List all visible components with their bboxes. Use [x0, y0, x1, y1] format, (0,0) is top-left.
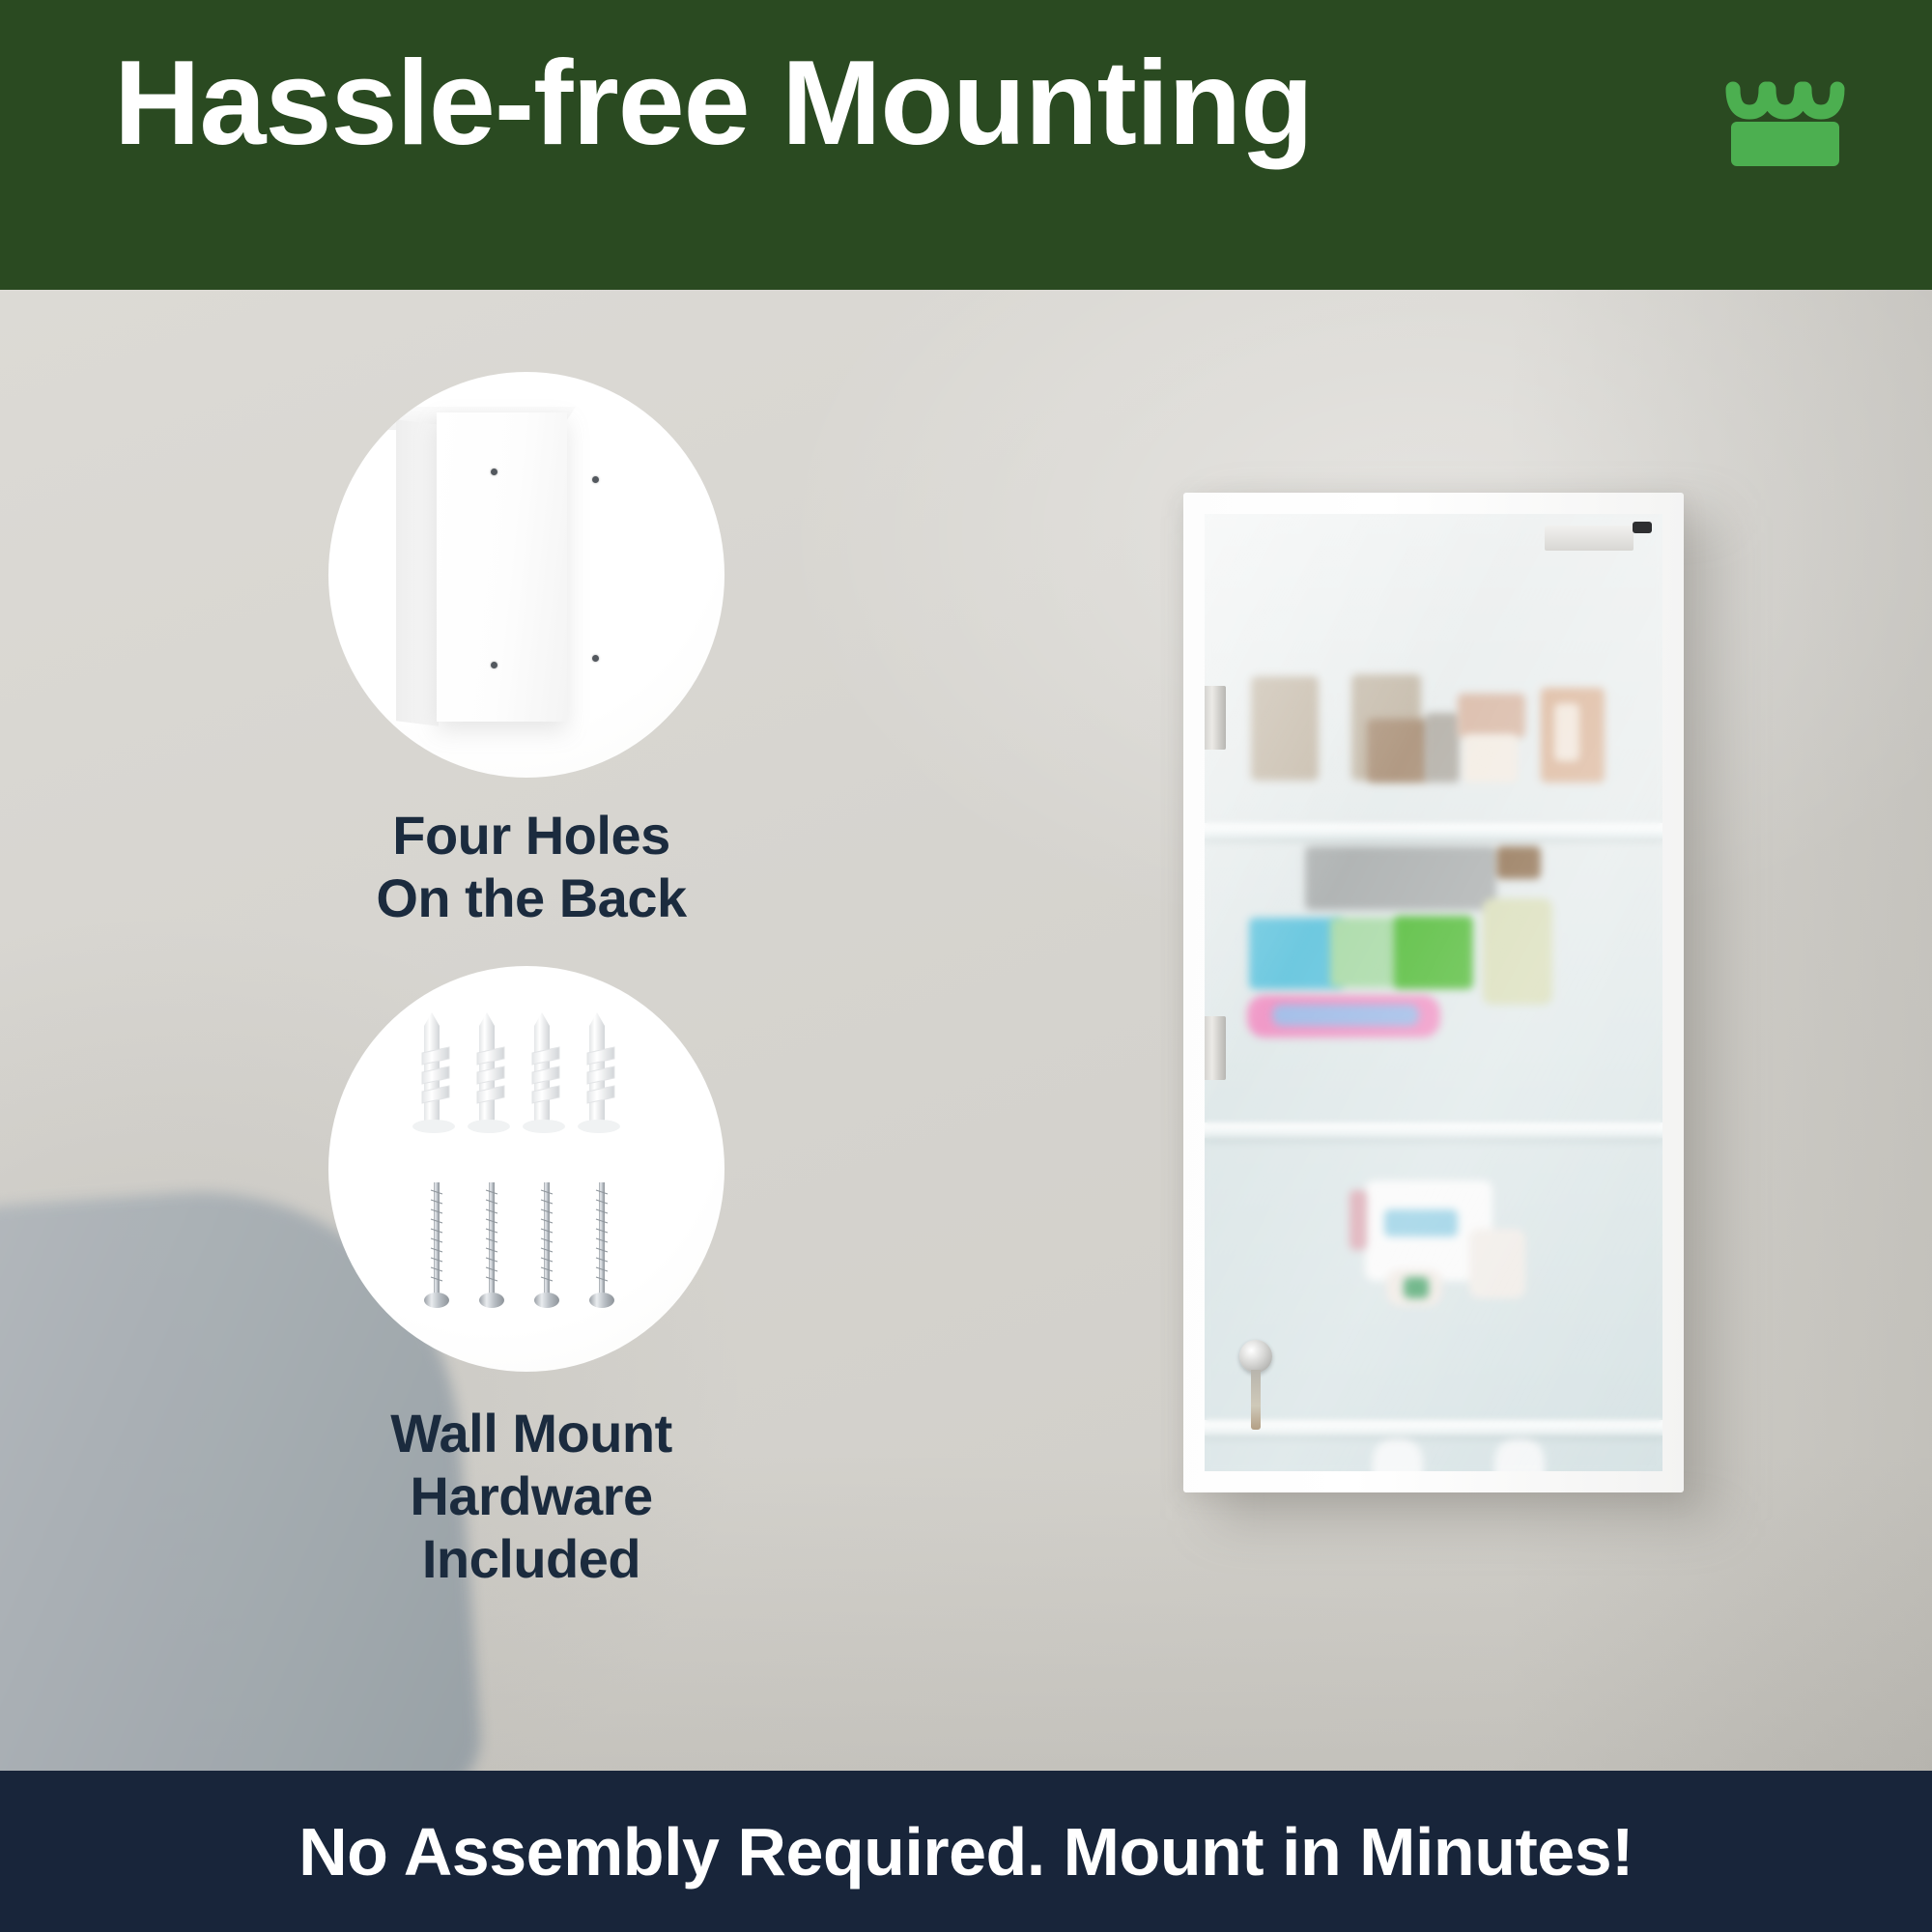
shelf-item — [1394, 916, 1473, 989]
feature-image-four-holes — [328, 372, 724, 778]
mounting-hole — [592, 655, 599, 662]
shelf-item — [1350, 1190, 1367, 1250]
product-scene: Four Holes On the Back — [0, 290, 1932, 1771]
cabinet-key-icon[interactable] — [1251, 1370, 1261, 1430]
feature-image-wall-mount-hardware — [328, 966, 724, 1372]
footer-banner: No Assembly Required. Mount in Minutes! — [0, 1771, 1932, 1932]
shelf-item — [1425, 713, 1460, 782]
cabinet-shelf — [1205, 1420, 1662, 1435]
shelf-item — [1483, 898, 1552, 1005]
wall-mounted-medicine-cabinet — [1183, 493, 1684, 1492]
shelf-item — [1458, 694, 1525, 738]
shelf-item — [1373, 1437, 1423, 1471]
shelf-item — [1251, 676, 1319, 781]
cabinet-side-face — [396, 419, 439, 725]
infographic-canvas: Hassle-free Mounting — [0, 0, 1932, 1932]
caption-line: Included — [232, 1528, 831, 1591]
shelf-item — [1554, 703, 1579, 761]
shelf-item — [1305, 846, 1496, 910]
page-title: Hassle-free Mounting — [114, 35, 1313, 173]
shelf-item — [1404, 1277, 1429, 1298]
cabinet-frosted-glass-door[interactable] — [1205, 514, 1662, 1471]
hardware-illustration — [328, 966, 724, 1372]
shelf-item — [1463, 734, 1518, 782]
cabinet-interior — [1205, 514, 1662, 1471]
cabinet-door-latch[interactable] — [1545, 526, 1634, 551]
caption-line: Hardware — [232, 1465, 831, 1528]
mounting-hole — [491, 469, 497, 475]
crown-scallop-logo-icon — [1723, 56, 1847, 170]
header-banner: Hassle-free Mounting — [0, 0, 1932, 290]
cabinet-hinge — [1205, 686, 1226, 750]
screw-group — [424, 1182, 614, 1308]
cabinet-latch-screw-icon — [1633, 522, 1652, 533]
drywall-anchor-group — [412, 1012, 620, 1133]
shelf-item — [1494, 1437, 1545, 1471]
cabinet-shelf — [1205, 823, 1662, 838]
shelf-item — [1384, 1209, 1458, 1236]
feature-caption-four-holes: Four Holes On the Back — [232, 805, 831, 930]
cabinet-key-lock[interactable] — [1239, 1340, 1272, 1373]
cabinet-back-panel — [437, 412, 567, 722]
cabinet-back-illustration — [328, 372, 724, 778]
mounting-hole — [592, 476, 599, 483]
shelf-item — [1496, 846, 1541, 879]
caption-line: Wall Mount — [232, 1403, 831, 1465]
feature-caption-wall-mount-hardware: Wall Mount Hardware Included — [232, 1403, 831, 1591]
caption-line: On the Back — [232, 867, 831, 930]
cabinet-shelf — [1205, 1122, 1662, 1138]
caption-line: Four Holes — [232, 805, 831, 867]
shelf-item — [1272, 1005, 1419, 1026]
shelf-item — [1469, 1229, 1525, 1298]
cabinet-hinge — [1205, 1016, 1226, 1080]
mounting-hole — [491, 662, 497, 668]
shelf-item — [1330, 918, 1400, 987]
shelf-item — [1367, 719, 1429, 782]
footer-tagline: No Assembly Required. Mount in Minutes! — [298, 1813, 1634, 1890]
